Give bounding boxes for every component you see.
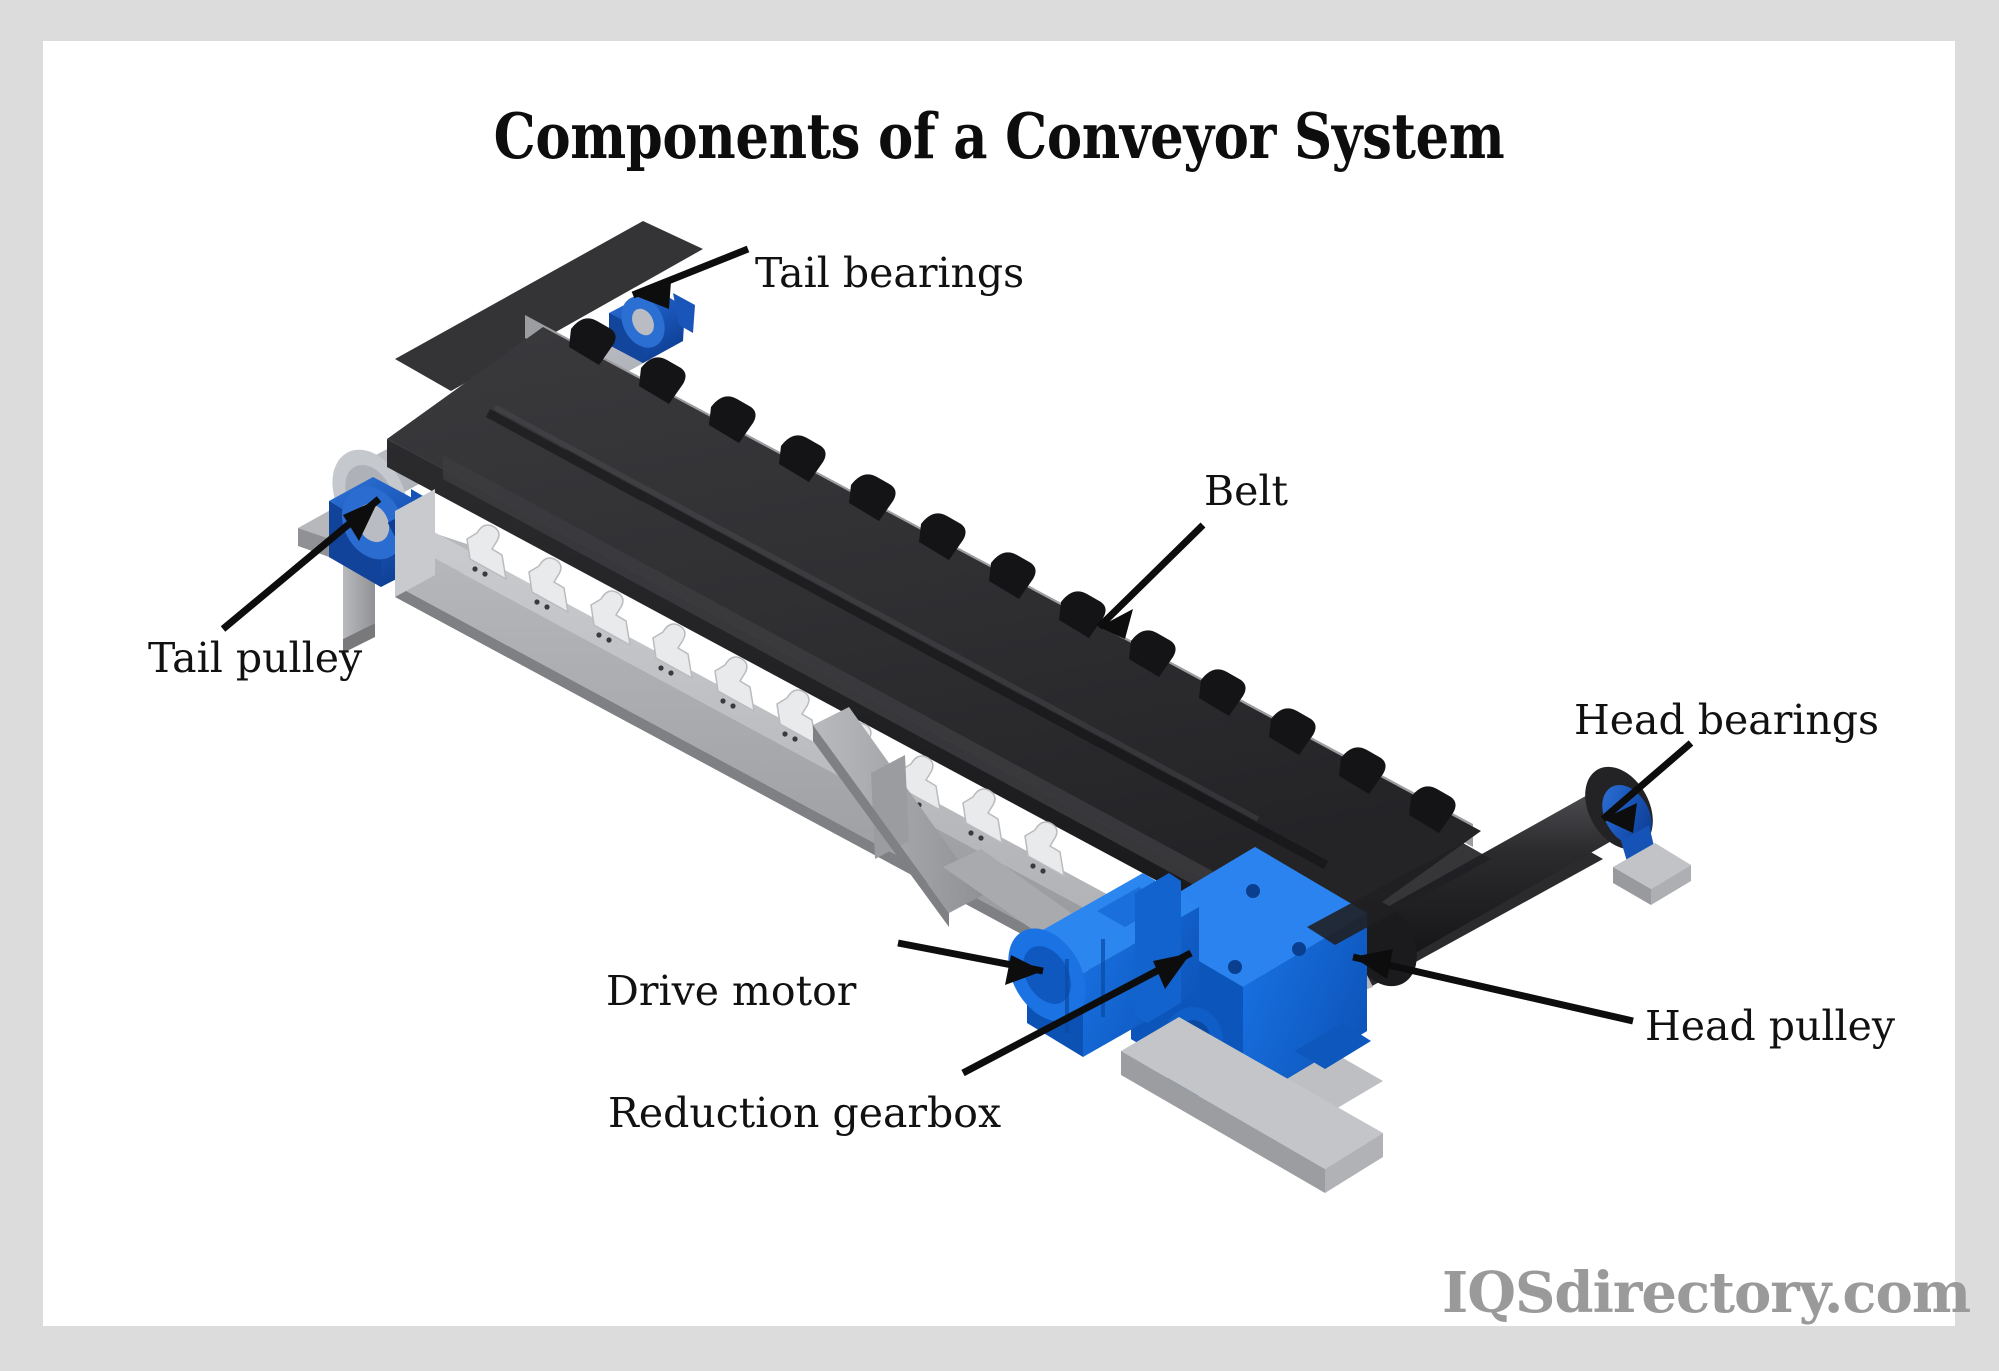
callout-label-drive-motor: Drive motor bbox=[606, 971, 856, 1012]
leader-tail-bearings bbox=[633, 249, 748, 309]
diagram-canvas: Components of a Conveyor System bbox=[43, 41, 1955, 1326]
leader-head-bearings bbox=[1603, 743, 1691, 833]
leader-reduction-gearbox bbox=[963, 953, 1191, 1073]
leader-drive-motor bbox=[898, 943, 1043, 985]
leader-belt bbox=[1099, 525, 1203, 639]
callout-label-tail-bearings: Tail bearings bbox=[755, 253, 1024, 294]
image-border: Components of a Conveyor System bbox=[0, 0, 1999, 1371]
leader-head-pulley bbox=[1353, 949, 1633, 1021]
callout-label-head-bearings: Head bearings bbox=[1574, 700, 1879, 741]
leader-tail-pulley bbox=[223, 499, 379, 629]
callout-label-belt: Belt bbox=[1204, 471, 1288, 512]
callout-label-reduction-gearbox: Reduction gearbox bbox=[608, 1093, 1001, 1134]
watermark: IQSdirectory.com bbox=[1442, 1260, 1970, 1326]
callout-label-head-pulley: Head pulley bbox=[1645, 1006, 1895, 1047]
callout-label-tail-pulley: Tail pulley bbox=[148, 638, 362, 679]
